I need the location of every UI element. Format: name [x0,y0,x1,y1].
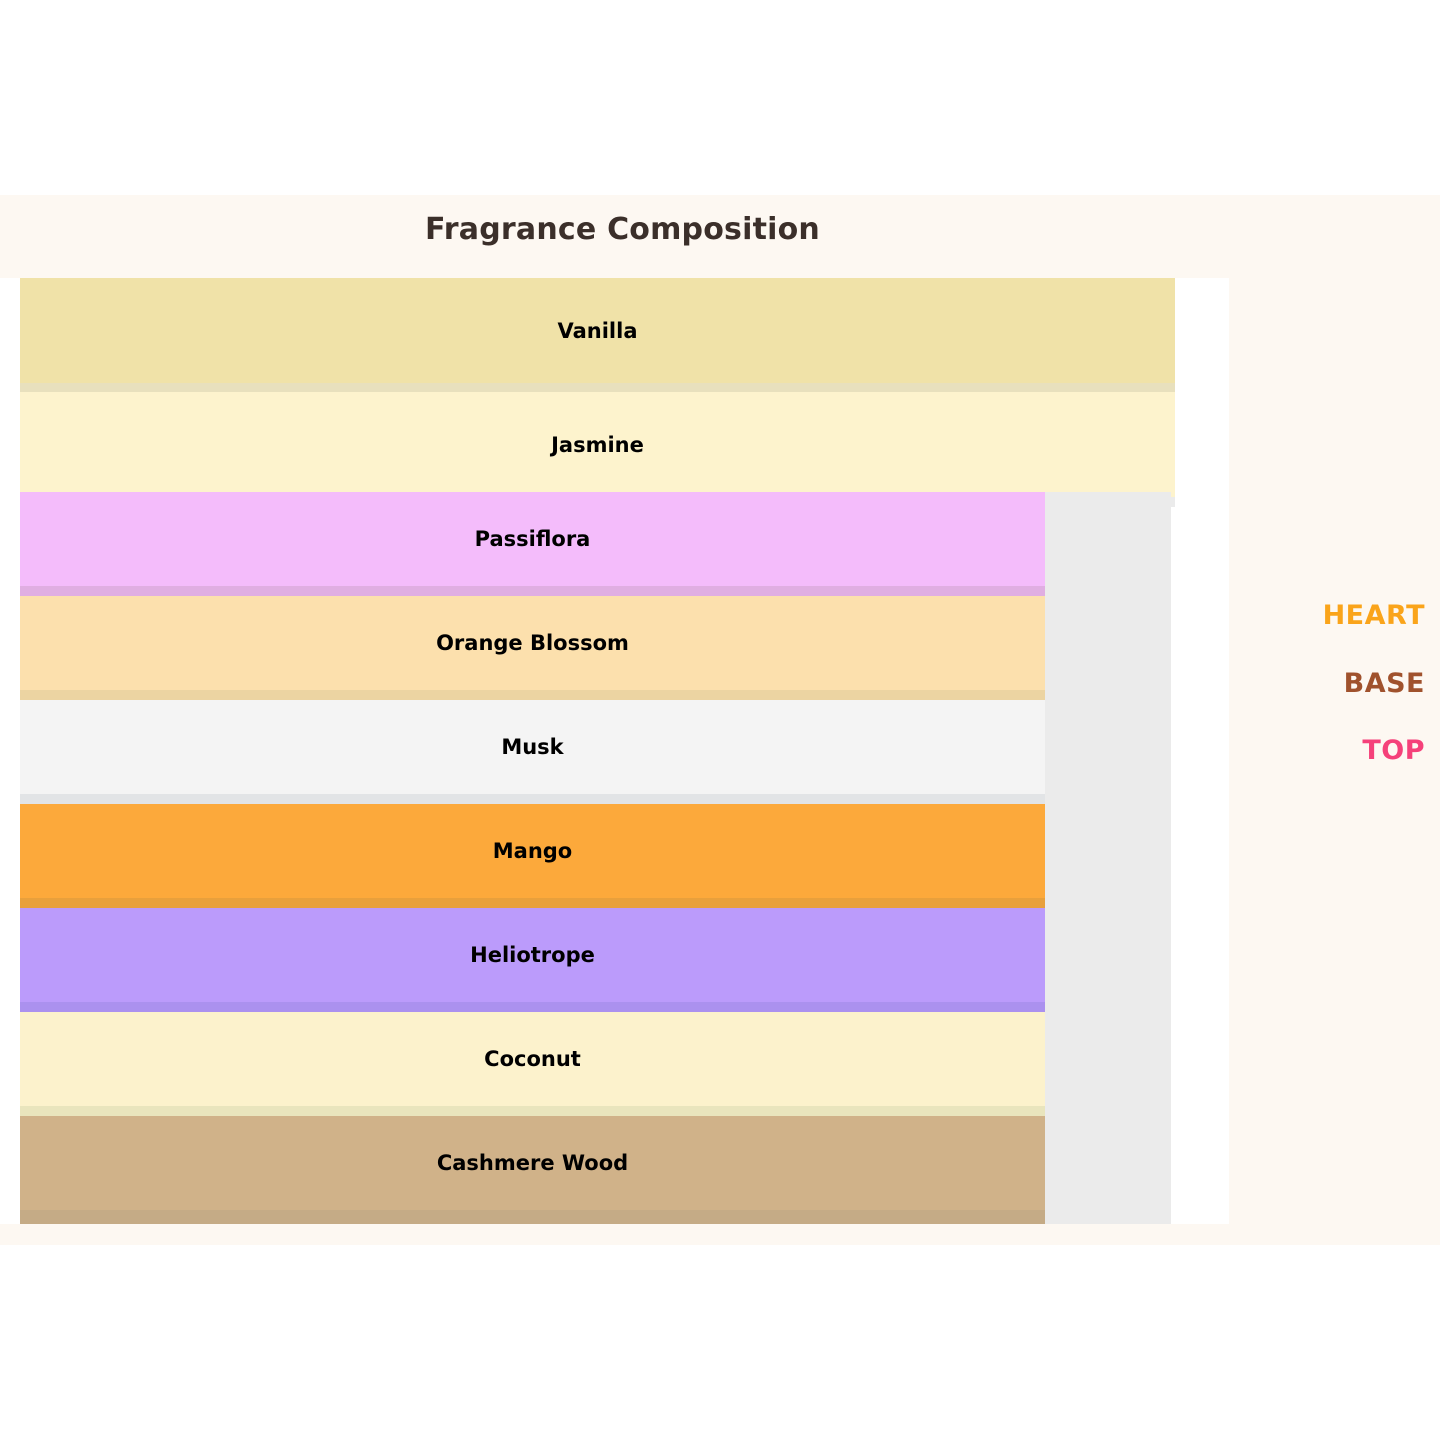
legend-item-base[interactable]: BASE [1344,668,1425,699]
bar-row[interactable]: Vanilla [20,278,1171,393]
bar-row[interactable]: Cashmere Wood [20,1116,1171,1224]
figure-canvas: Fragrance Composition VanillaJasminePass… [0,195,1440,1245]
bar-fill[interactable] [20,804,1045,898]
legend-item-top[interactable]: TOP [1362,735,1425,766]
legend-item-heart[interactable]: HEART [1323,600,1425,631]
bar-fill[interactable] [20,392,1175,497]
bar-row[interactable]: Passiflora [20,492,1171,596]
bar-fill[interactable] [20,700,1045,794]
bar-fill[interactable] [20,596,1045,690]
page-title: Fragrance Composition [0,212,1245,247]
bar-row[interactable]: Musk [20,700,1171,804]
bar-fill[interactable] [20,278,1175,383]
plot-area: VanillaJasminePassifloraOrange BlossomMu… [0,278,1229,1224]
bar-fill[interactable] [20,1116,1045,1210]
bar-row[interactable]: Mango [20,804,1171,908]
legend: HEARTBASETOP [1245,195,1440,1245]
bar-fill[interactable] [20,492,1045,586]
bar-fill[interactable] [20,1012,1045,1106]
bar-row[interactable]: Orange Blossom [20,596,1171,700]
bar-row[interactable]: Coconut [20,1012,1171,1116]
bar-row[interactable]: Jasmine [20,392,1171,507]
bar-fill[interactable] [20,908,1045,1002]
bar-row[interactable]: Heliotrope [20,908,1171,1012]
